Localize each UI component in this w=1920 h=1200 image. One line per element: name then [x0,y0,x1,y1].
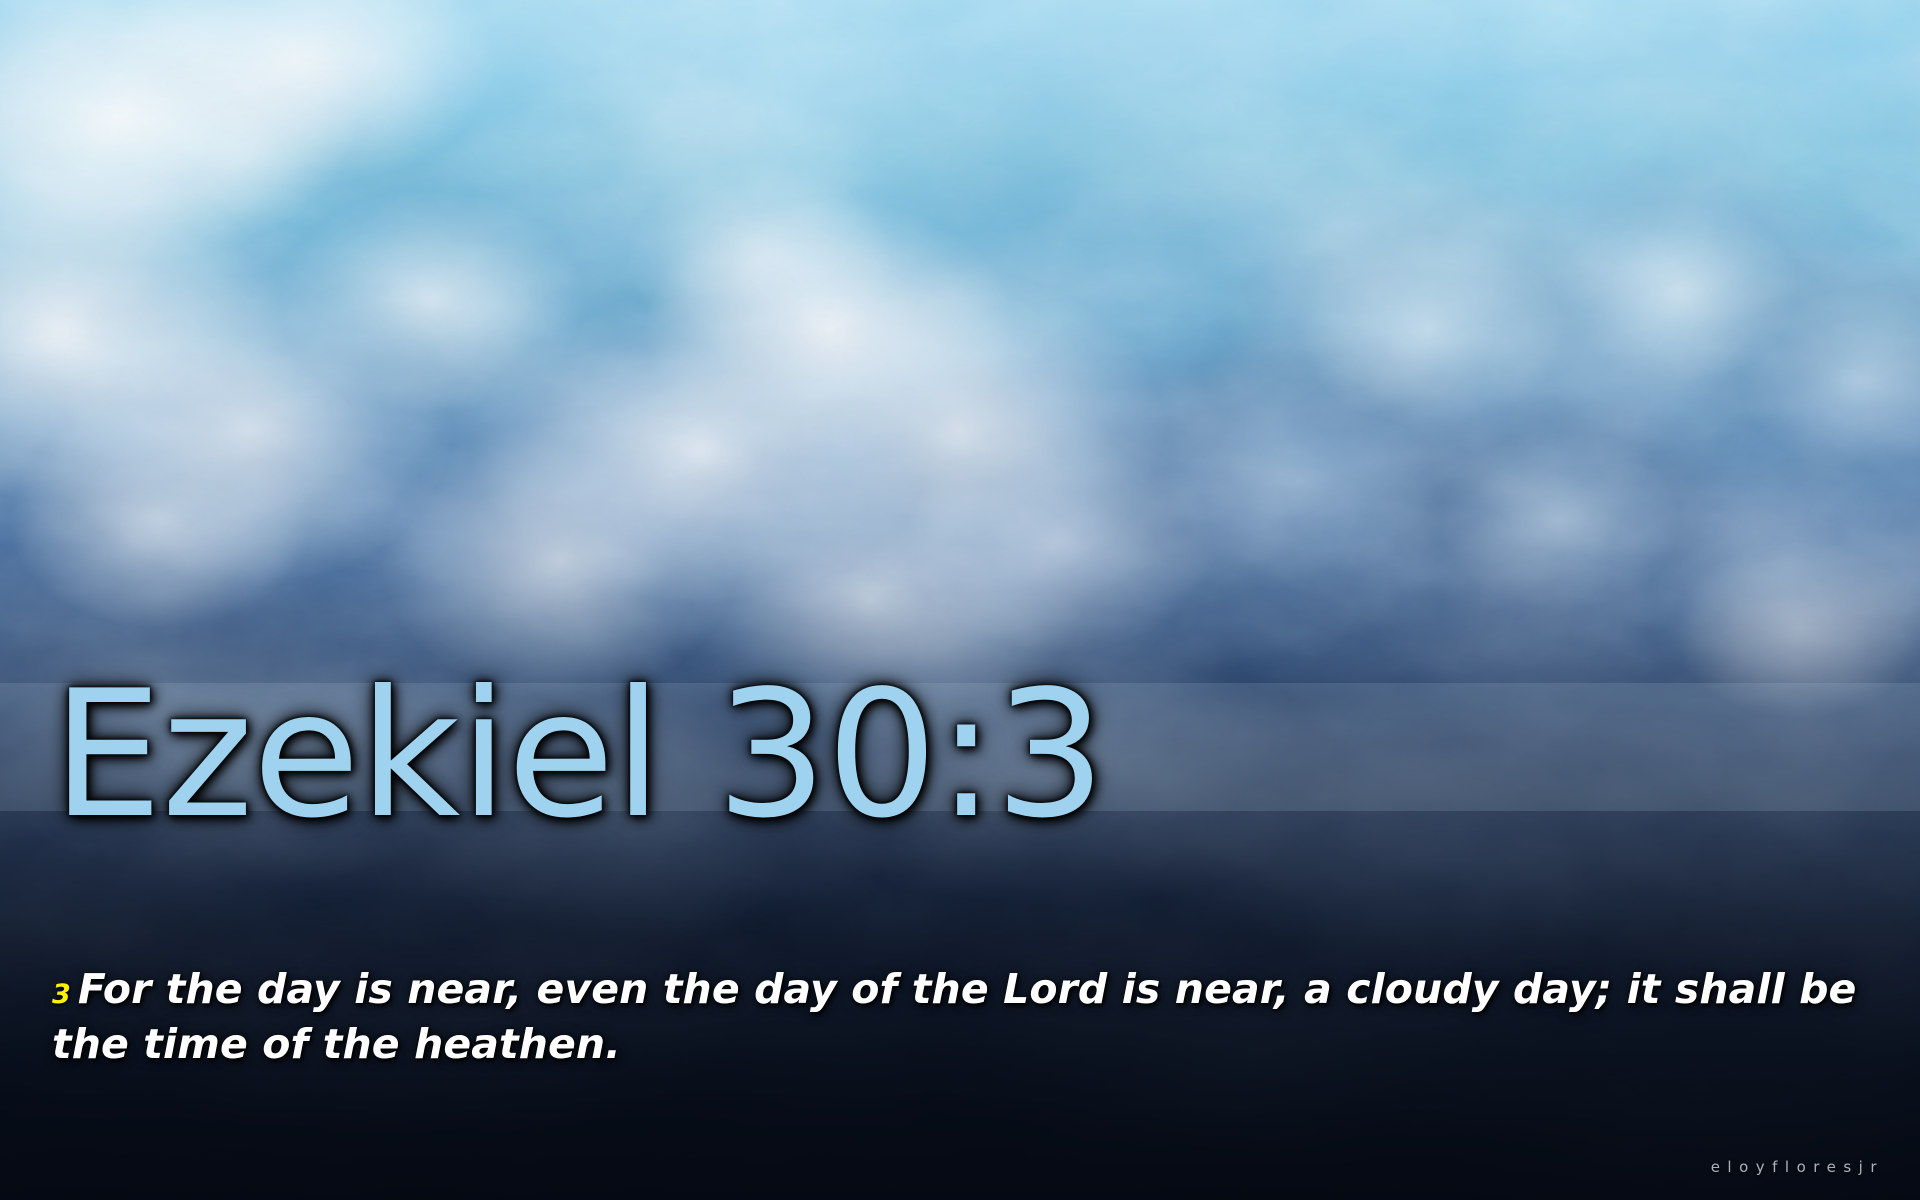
verse-number-superscript: 3 [52,979,71,1010]
scripture-wallpaper: Ezekiel 30:3 3For the day is near, even … [0,0,1920,1200]
verse-text-content: For the day is near, even the day of the… [52,965,1856,1068]
scripture-text-overlay: Ezekiel 30:3 3For the day is near, even … [0,0,1920,1200]
artist-watermark: eloyfloresjr [1711,1158,1884,1176]
scripture-verse-text: 3For the day is near, even the day of th… [52,962,1862,1071]
scripture-reference-heading: Ezekiel 30:3 [52,668,1105,843]
